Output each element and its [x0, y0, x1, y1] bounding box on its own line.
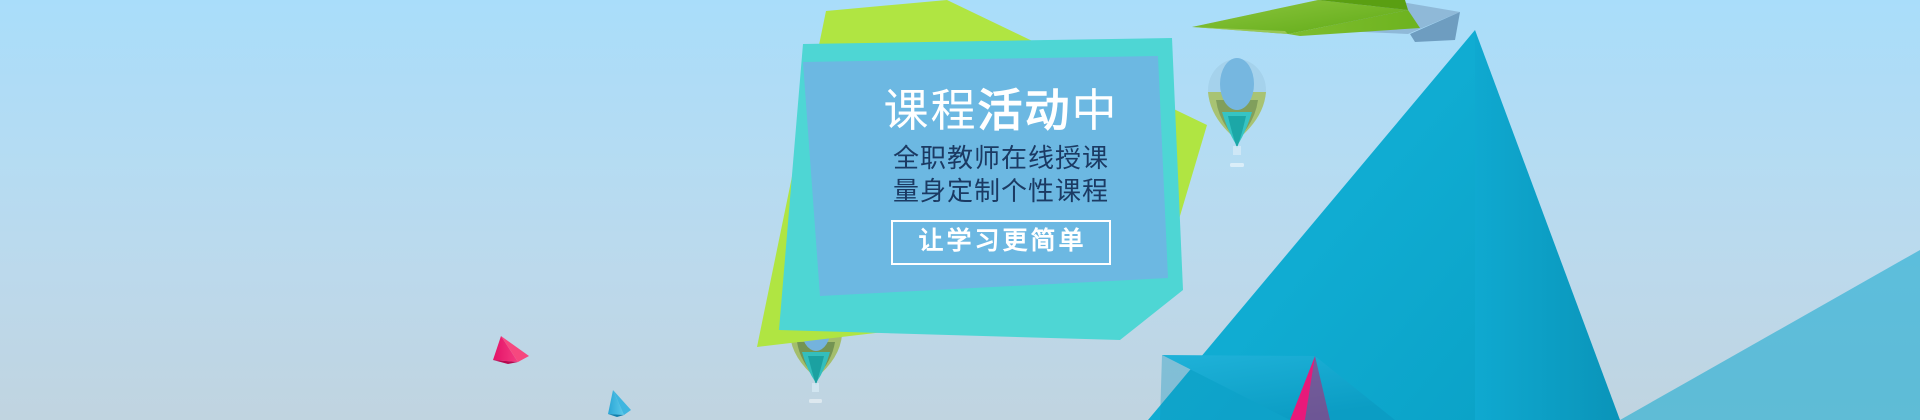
headline-suffix: 中	[1072, 84, 1119, 137]
promo-banner: 课程活动中 全职教师在线授课 量身定制个性课程 让学习更简单	[0, 0, 1920, 420]
subtitle-line-1: 全职教师在线授课	[893, 143, 1109, 176]
headline-strong: 活动	[977, 84, 1071, 137]
promo-content: 课程活动中 全职教师在线授课 量身定制个性课程 让学习更简单	[818, 62, 1184, 274]
subtitle-line-2: 量身定制个性课程	[893, 176, 1109, 209]
cta-button[interactable]: 让学习更简单	[891, 220, 1110, 265]
page-title: 课程活动中	[883, 88, 1118, 134]
subtitle-group: 全职教师在线授课 量身定制个性课程	[893, 143, 1109, 210]
headline-prefix: 课程	[883, 84, 977, 137]
